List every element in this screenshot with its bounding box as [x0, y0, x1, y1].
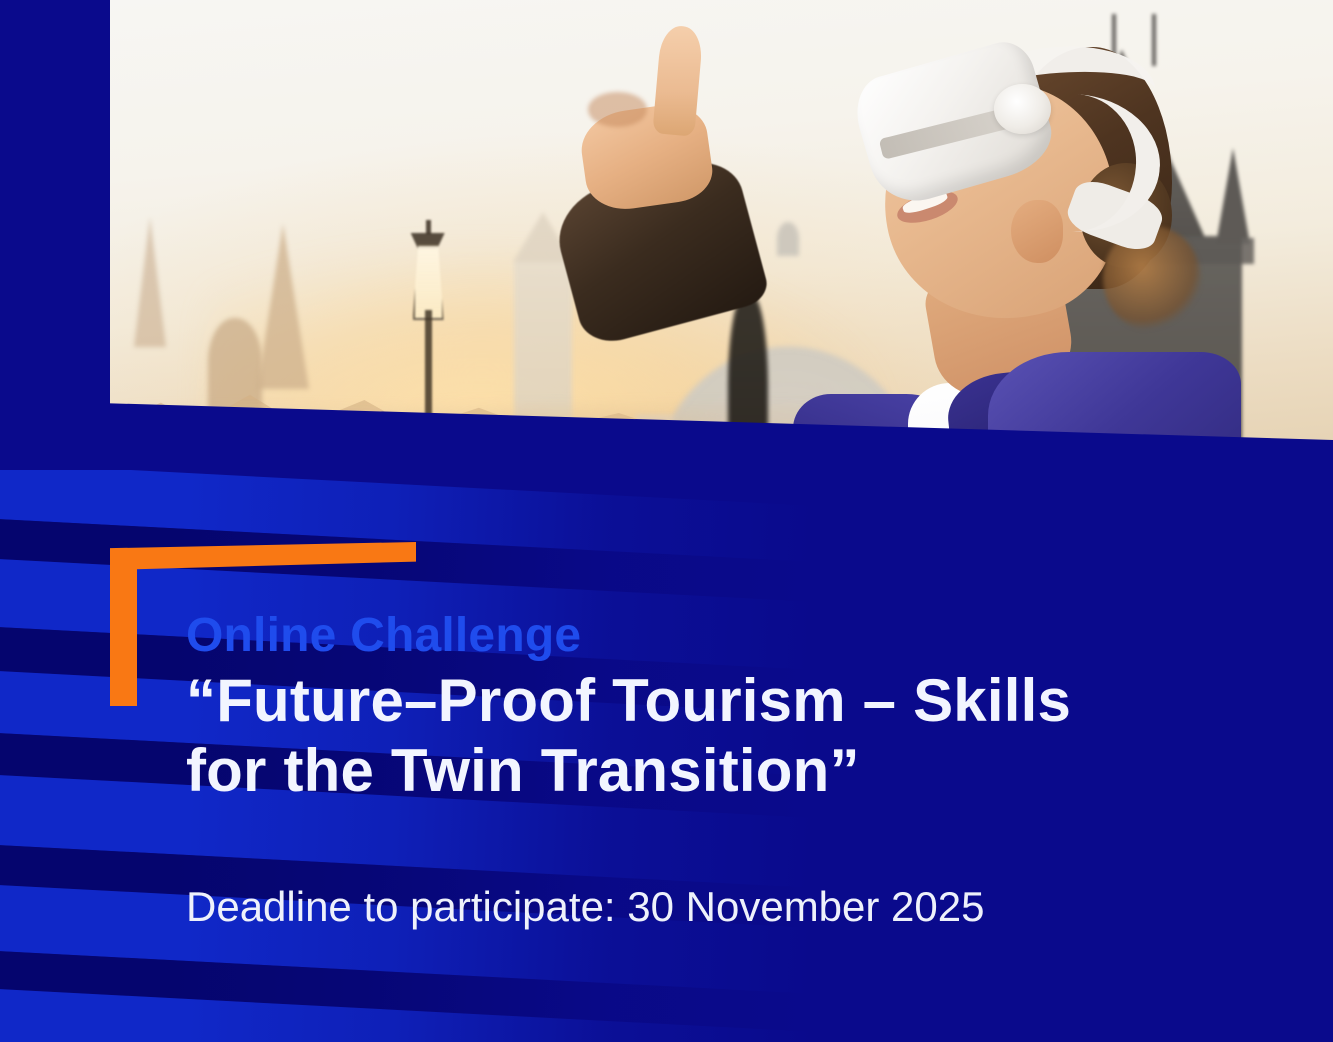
church-spire-icon	[257, 224, 309, 389]
lamp-finial	[426, 220, 431, 234]
bracket-vertical-arm	[110, 562, 137, 706]
stripe-light	[0, 986, 819, 1042]
stripe-dark	[0, 948, 819, 1032]
page-title: “Future–Proof Tourism – Skills for the T…	[186, 666, 1246, 805]
bracket-horizontal-arm	[110, 542, 416, 570]
vr-adjustment-dial	[994, 84, 1051, 134]
church-spire-far-icon	[134, 217, 166, 347]
hand-knuckles	[588, 92, 647, 127]
eyebrow-label: Online Challenge	[186, 612, 1246, 660]
raised-arm	[520, 26, 765, 299]
headline-line-2: for the Twin Transition”	[186, 736, 1246, 806]
promo-banner: Online Challenge “Future–Proof Tourism –…	[0, 0, 1333, 1042]
deadline-text: Deadline to participate: 30 November 202…	[186, 884, 985, 930]
left-navy-sidebar	[0, 0, 110, 530]
church-dome-small-icon	[208, 318, 262, 410]
headline-line-1: “Future–Proof Tourism – Skills	[186, 666, 1246, 736]
text-block: Online Challenge “Future–Proof Tourism –…	[186, 612, 1246, 805]
lamp-glass	[413, 244, 444, 320]
